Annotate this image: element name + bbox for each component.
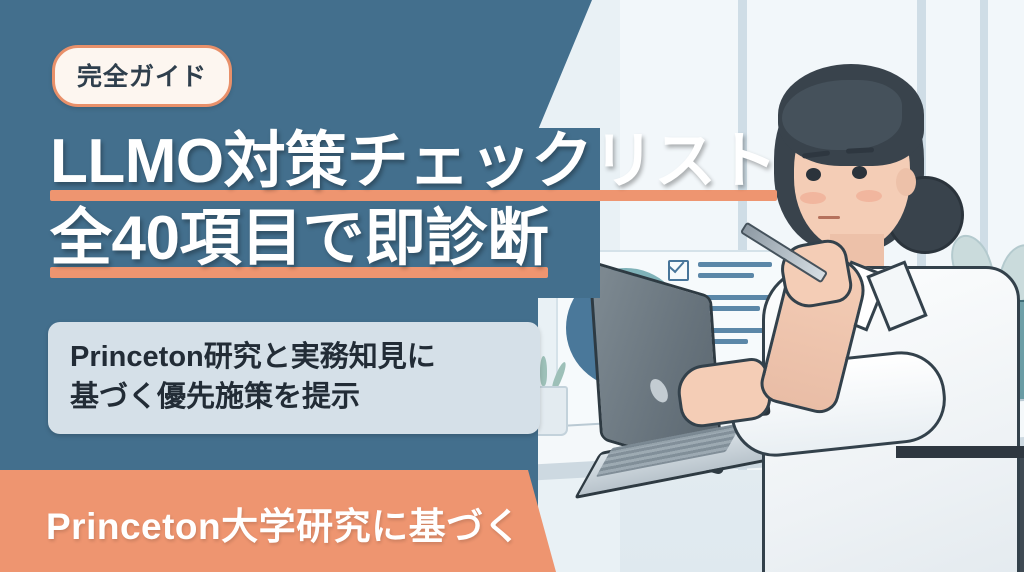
subtitle-line-2: 基づく優先施策を提示 [70, 377, 518, 417]
source-ribbon-label: Princeton大学研究に基づく [46, 496, 521, 550]
llmo-checklist-banner: 完全ガイド LLMO対策チェックリスト 全40項目で即診断 Princeton研… [0, 0, 1024, 572]
belt [896, 446, 1024, 458]
eye [806, 168, 821, 181]
headline-line-2: 全40項目で即診断 [50, 207, 548, 270]
blush [800, 192, 826, 204]
source-ribbon: Princeton大学研究に基づく [0, 470, 560, 572]
eye [852, 166, 867, 179]
subtitle-box: Princeton研究と実務知見に 基づく優先施策を提示 [48, 322, 540, 434]
plant-leaf [540, 356, 547, 386]
headline-line-1: LLMO対策チェックリスト [50, 130, 777, 193]
laptop-logo [647, 379, 670, 402]
subtitle-line-1: Princeton研究と実務知見に [70, 337, 518, 377]
blush [856, 190, 882, 202]
mouth [818, 216, 840, 219]
page-title: LLMO対策チェックリスト 全40項目で即診断 [50, 130, 777, 284]
person-illustration [690, 28, 1020, 572]
headline-text: 全40項目で即診断 [50, 207, 548, 270]
guide-badge: 完全ガイド [52, 45, 232, 107]
hair-highlight [782, 80, 902, 150]
ear [896, 168, 916, 196]
headline-text: LLMO対策チェックリスト [50, 130, 777, 193]
